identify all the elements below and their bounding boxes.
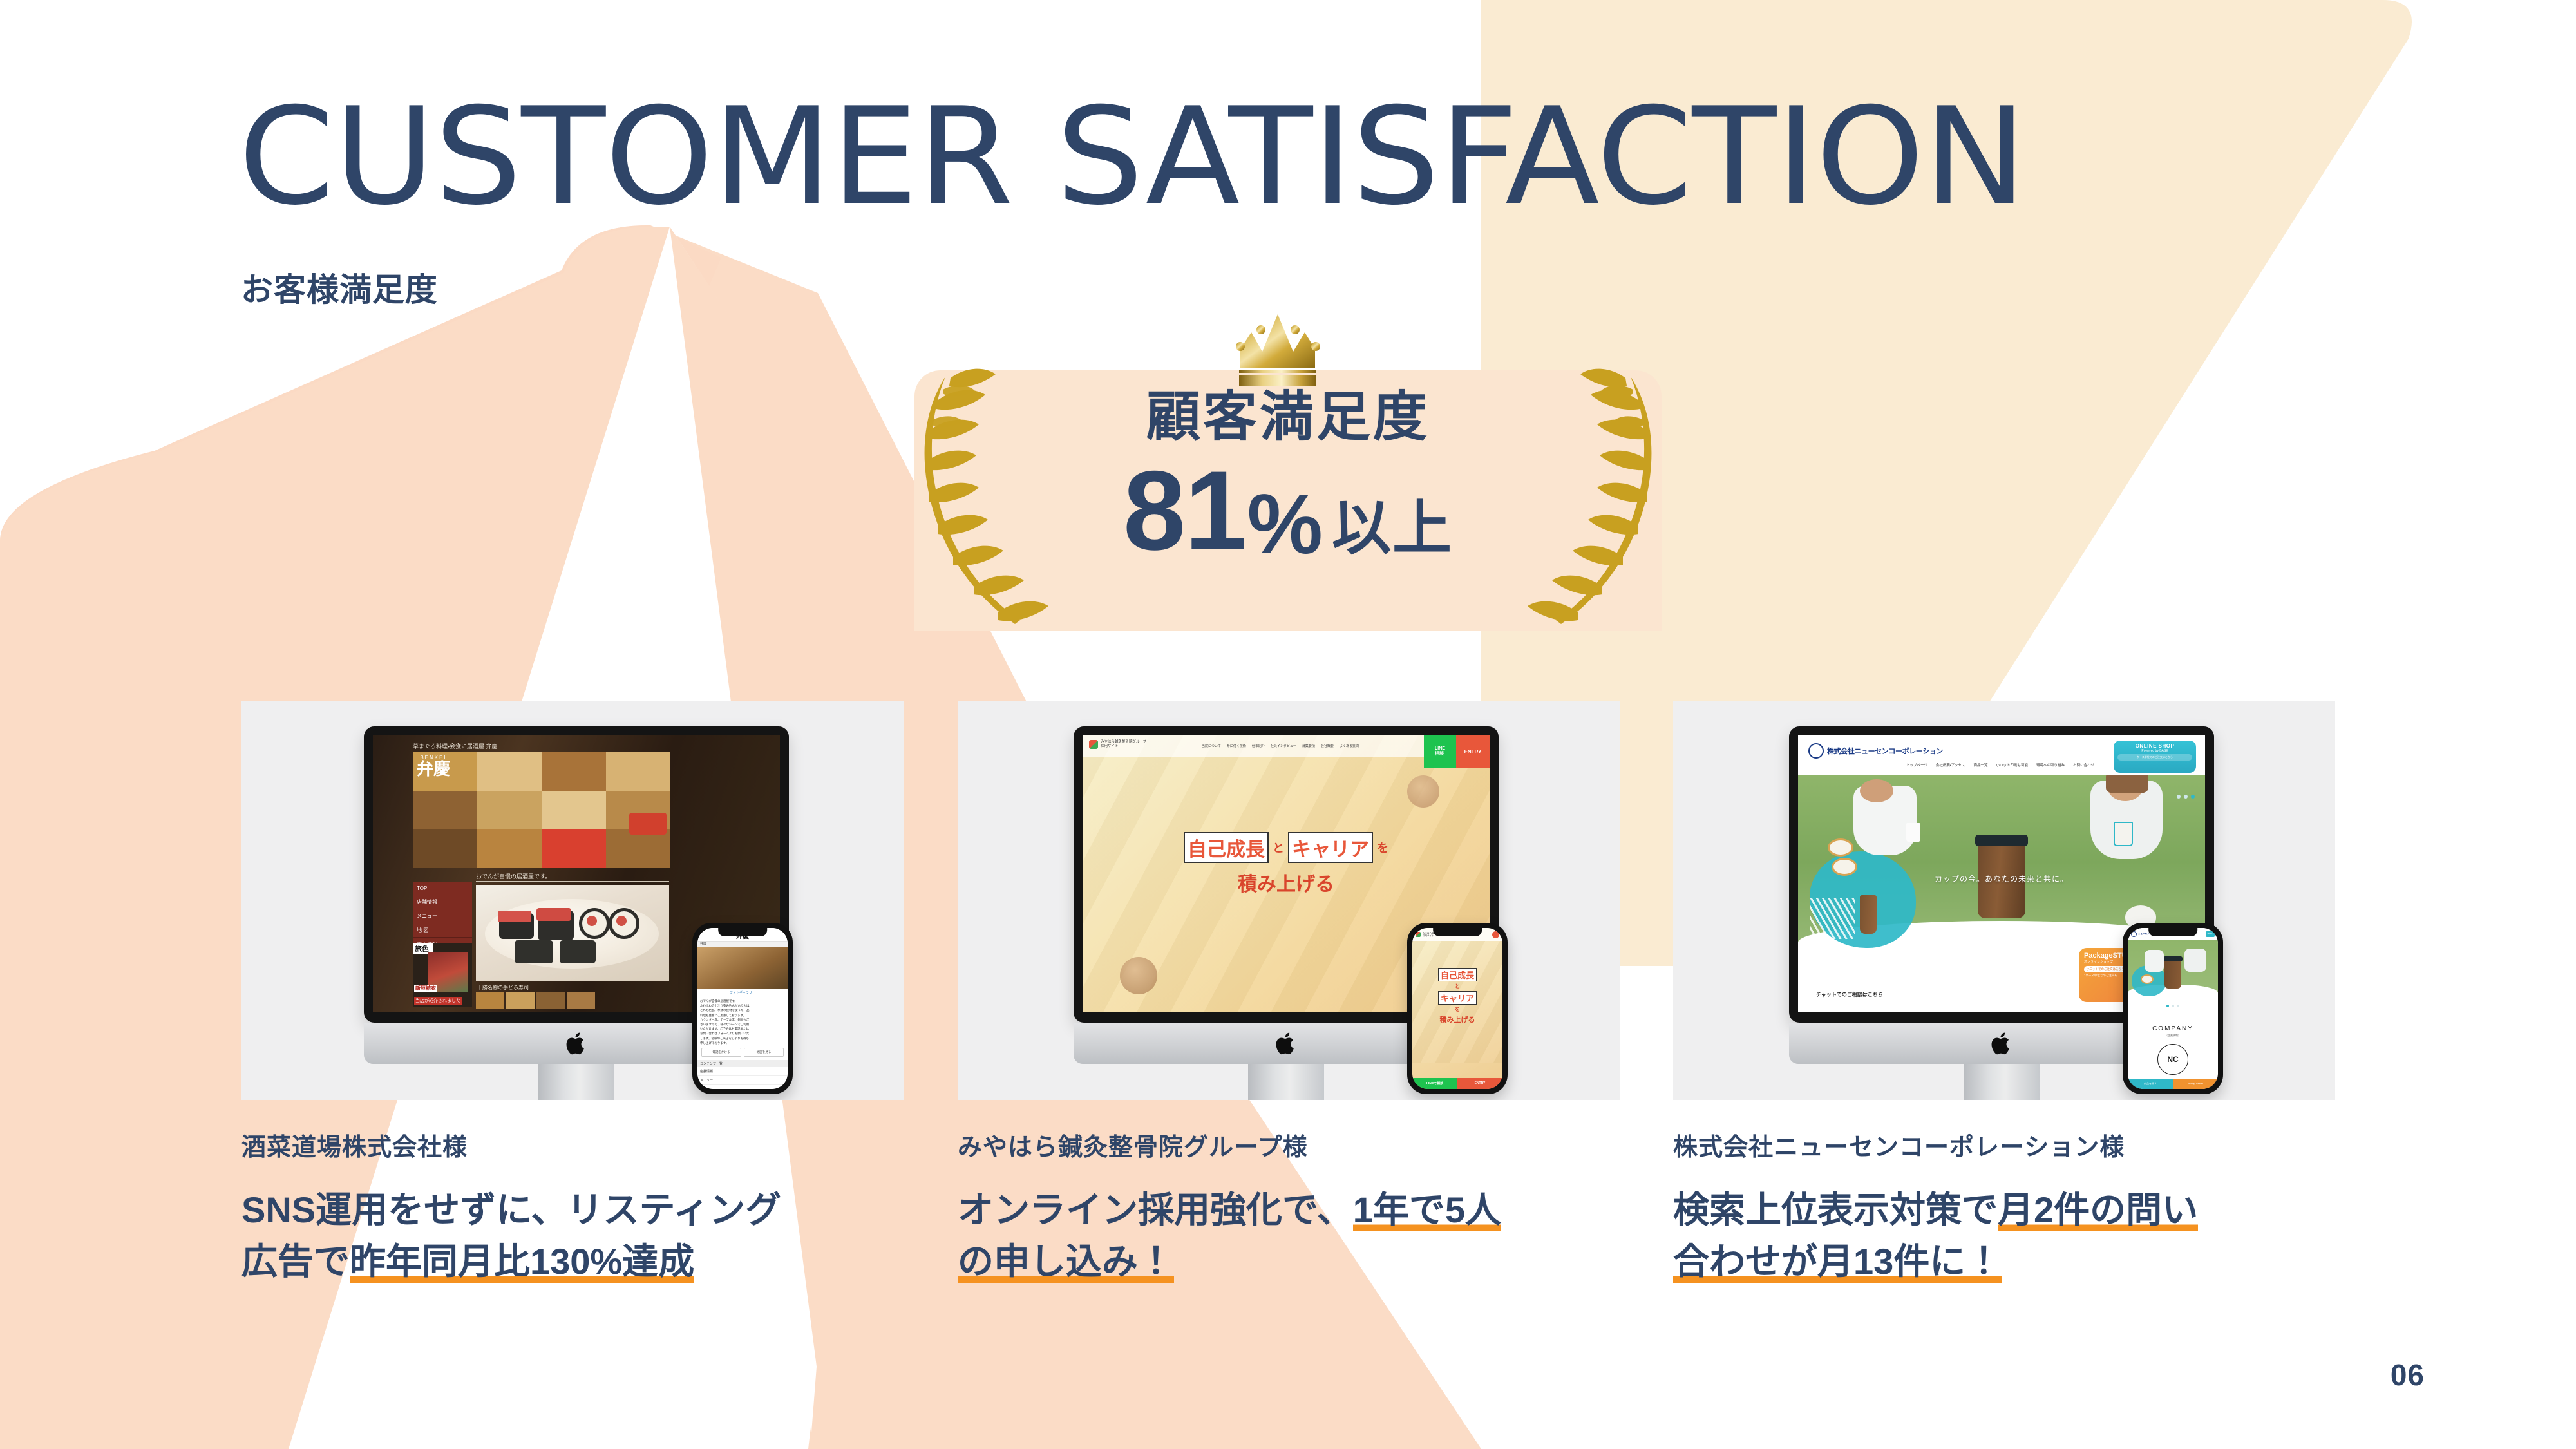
testimonial-cards: 草まぐろ料理・会食に居酒屋 弁慶 xyxy=(0,701,2576,1345)
card-company-name: 株式会社ニューセンコーポレーション様 xyxy=(1673,1127,2335,1162)
card-quote: オンライン採用強化で、1年で5人 の申し込み！ xyxy=(958,1184,1620,1287)
card-quote-line2-highlight: 合わせが月13件に！ xyxy=(1673,1241,2002,1283)
site2-hero-line2: 積み上げる xyxy=(1083,868,1490,896)
site3-shop-badge-sub: Powered by BASE xyxy=(2114,749,2196,753)
site-header-text: 草まぐろ料理・会食に居酒屋 弁慶 xyxy=(413,742,498,750)
site2-logo-line2: 採用サイト xyxy=(1101,744,1146,749)
badge-score: 81 xyxy=(1123,459,1246,563)
phone3-company-label: COMPANY xyxy=(2128,1025,2218,1032)
title-block: CUSTOMER SATISFACTION お客様満足度 xyxy=(238,90,2170,310)
page-number: 06 xyxy=(2391,1358,2425,1392)
card-quote-line1-plain: 検索上位表示対策で xyxy=(1673,1189,1998,1230)
phone-body: みやはら鍼灸整骨院グループ採用サイト 自己成長 と キャリア xyxy=(1407,923,1508,1094)
site2-hero-particle: を xyxy=(1377,839,1388,856)
screenshot-mockup-2: みやはら鍼灸整骨院グループ 採用サイト 当院について身に付く技術仕事紹介社員イン… xyxy=(958,701,1620,1100)
card-quote-line1: SNS運用をせずに、リスティング xyxy=(241,1189,781,1230)
site-promo-tag: 当店が紹介されました xyxy=(414,997,462,1005)
card-quote-line2-highlight: の申し込み！ xyxy=(958,1241,1174,1283)
site2-line-cta[interactable]: LINE相談 xyxy=(1424,735,1456,768)
site-caption-bottom: 十勝名物の手どろ寿司 xyxy=(477,984,529,991)
site3-hero-copy: カップの今。あなたの未来と共に。 xyxy=(1798,873,2205,884)
badge-suffix: 以上 xyxy=(1332,502,1453,563)
site2-entry-cta[interactable]: ENTRY xyxy=(1456,735,1490,768)
site2-hero-word1: 自己成長 xyxy=(1184,832,1269,863)
card-quote: SNS運用をせずに、リスティング 広告で昨年同月比130%達成 xyxy=(241,1184,904,1287)
screenshot-mockup-1: 草まぐろ料理・会食に居酒屋 弁慶 xyxy=(241,701,904,1100)
crown-icon xyxy=(1230,309,1346,390)
phone-notch xyxy=(718,928,767,936)
testimonial-card: 草まぐろ料理・会食に居酒屋 弁慶 xyxy=(241,701,904,1287)
testimonial-card: みやはら鍼灸整骨院グループ 採用サイト 当院について身に付く技術仕事紹介社員イン… xyxy=(958,701,1620,1287)
apple-logo-icon xyxy=(1275,1030,1297,1056)
site3-chat-cta[interactable]: チャットでのご相談はこちら xyxy=(1816,991,1883,998)
slide-root: CUSTOMER SATISFACTION お客様満足度 xyxy=(0,0,2576,1449)
phone-body: 弁慶 弁慶 フォトギャラリー おでんが自慢の居酒屋です。 ふわふわの出汁が染み込… xyxy=(692,923,793,1094)
card-quote: 検索上位表示対策で月2件の問い 合わせが月13件に！ xyxy=(1673,1184,2335,1287)
phone-notch xyxy=(1433,928,1482,936)
phone-notch xyxy=(2148,928,2197,936)
badge-percent-symbol: % xyxy=(1247,485,1323,563)
card-quote-line1-highlight: 月2件の問い xyxy=(1998,1189,2198,1231)
badge-label: 顧客満足度 xyxy=(889,390,1687,444)
apple-logo-icon xyxy=(1991,1030,2012,1056)
site3-shop-badge-title[interactable]: ONLINE SHOP xyxy=(2114,743,2196,749)
apple-logo-icon xyxy=(565,1030,587,1056)
card-company-name: みやはら鍼灸整骨院グループ様 xyxy=(958,1127,1620,1162)
imac-neck xyxy=(538,1064,614,1100)
site3-logo: 株式会社ニューセンコーポレーション xyxy=(1827,746,1943,756)
phone3-logo: NC xyxy=(2157,1044,2188,1075)
testimonial-card: 株式会社ニューセンコーポレーション トップページ会社概要・アクセス商品一覧 小ロ… xyxy=(1673,701,2335,1287)
badge-text-block: 顧客満足度 81 % 以上 xyxy=(889,390,1687,563)
phone-body: ニューセン MENU xyxy=(2123,923,2223,1094)
imac-neck xyxy=(1964,1064,2040,1100)
phone-mockup: ニューセン MENU xyxy=(2123,923,2223,1094)
phone-screen: みやはら鍼灸整骨院グループ採用サイト 自己成長 と キャリア xyxy=(1412,928,1502,1089)
imac-neck xyxy=(1248,1064,1324,1100)
phone-screen: 弁慶 弁慶 フォトギャラリー おでんが自慢の居酒屋です。 ふわふわの出汁が染み込… xyxy=(697,928,788,1089)
badge-score-row: 81 % 以上 xyxy=(889,459,1687,563)
card-company-name: 酒菜道場株式会社様 xyxy=(241,1127,904,1162)
site2-logo-line1: みやはら鍼灸整骨院グループ xyxy=(1101,740,1146,744)
phone3-company-sub: （企業情報） xyxy=(2128,1034,2218,1037)
satisfaction-badge: 顧客満足度 81 % 以上 xyxy=(889,309,1687,631)
page-title: CUSTOMER SATISFACTION xyxy=(238,90,2228,224)
card-quote-line1-highlight: 1年で5人 xyxy=(1353,1189,1501,1231)
screenshot-mockup-3: 株式会社ニューセンコーポレーション トップページ会社概要・アクセス商品一覧 小ロ… xyxy=(1673,701,2335,1100)
phone-screen: ニューセン MENU xyxy=(2128,928,2218,1089)
site-brand-jp: 弁慶 xyxy=(417,761,450,777)
site2-hero-conj: と xyxy=(1273,839,1284,856)
card-quote-line1-plain: オンライン採用強化で、 xyxy=(958,1189,1353,1230)
page-subtitle: お客様満足度 xyxy=(241,264,2170,310)
card-quote-line2-highlight: 昨年同月比130%達成 xyxy=(350,1241,694,1283)
card-quote-line2-plain: 広告で xyxy=(241,1241,350,1282)
site-caption-top: おでんが自慢の居酒屋です。 xyxy=(476,872,551,880)
site2-hero-word2: キャリア xyxy=(1288,832,1373,863)
site-promo-name: 新垣結衣 xyxy=(414,985,437,992)
phone-mockup: 弁慶 弁慶 フォトギャラリー おでんが自慢の居酒屋です。 ふわふわの出汁が染み込… xyxy=(692,923,793,1094)
phone-mockup: みやはら鍼灸整骨院グループ採用サイト 自己成長 と キャリア xyxy=(1407,923,1508,1094)
